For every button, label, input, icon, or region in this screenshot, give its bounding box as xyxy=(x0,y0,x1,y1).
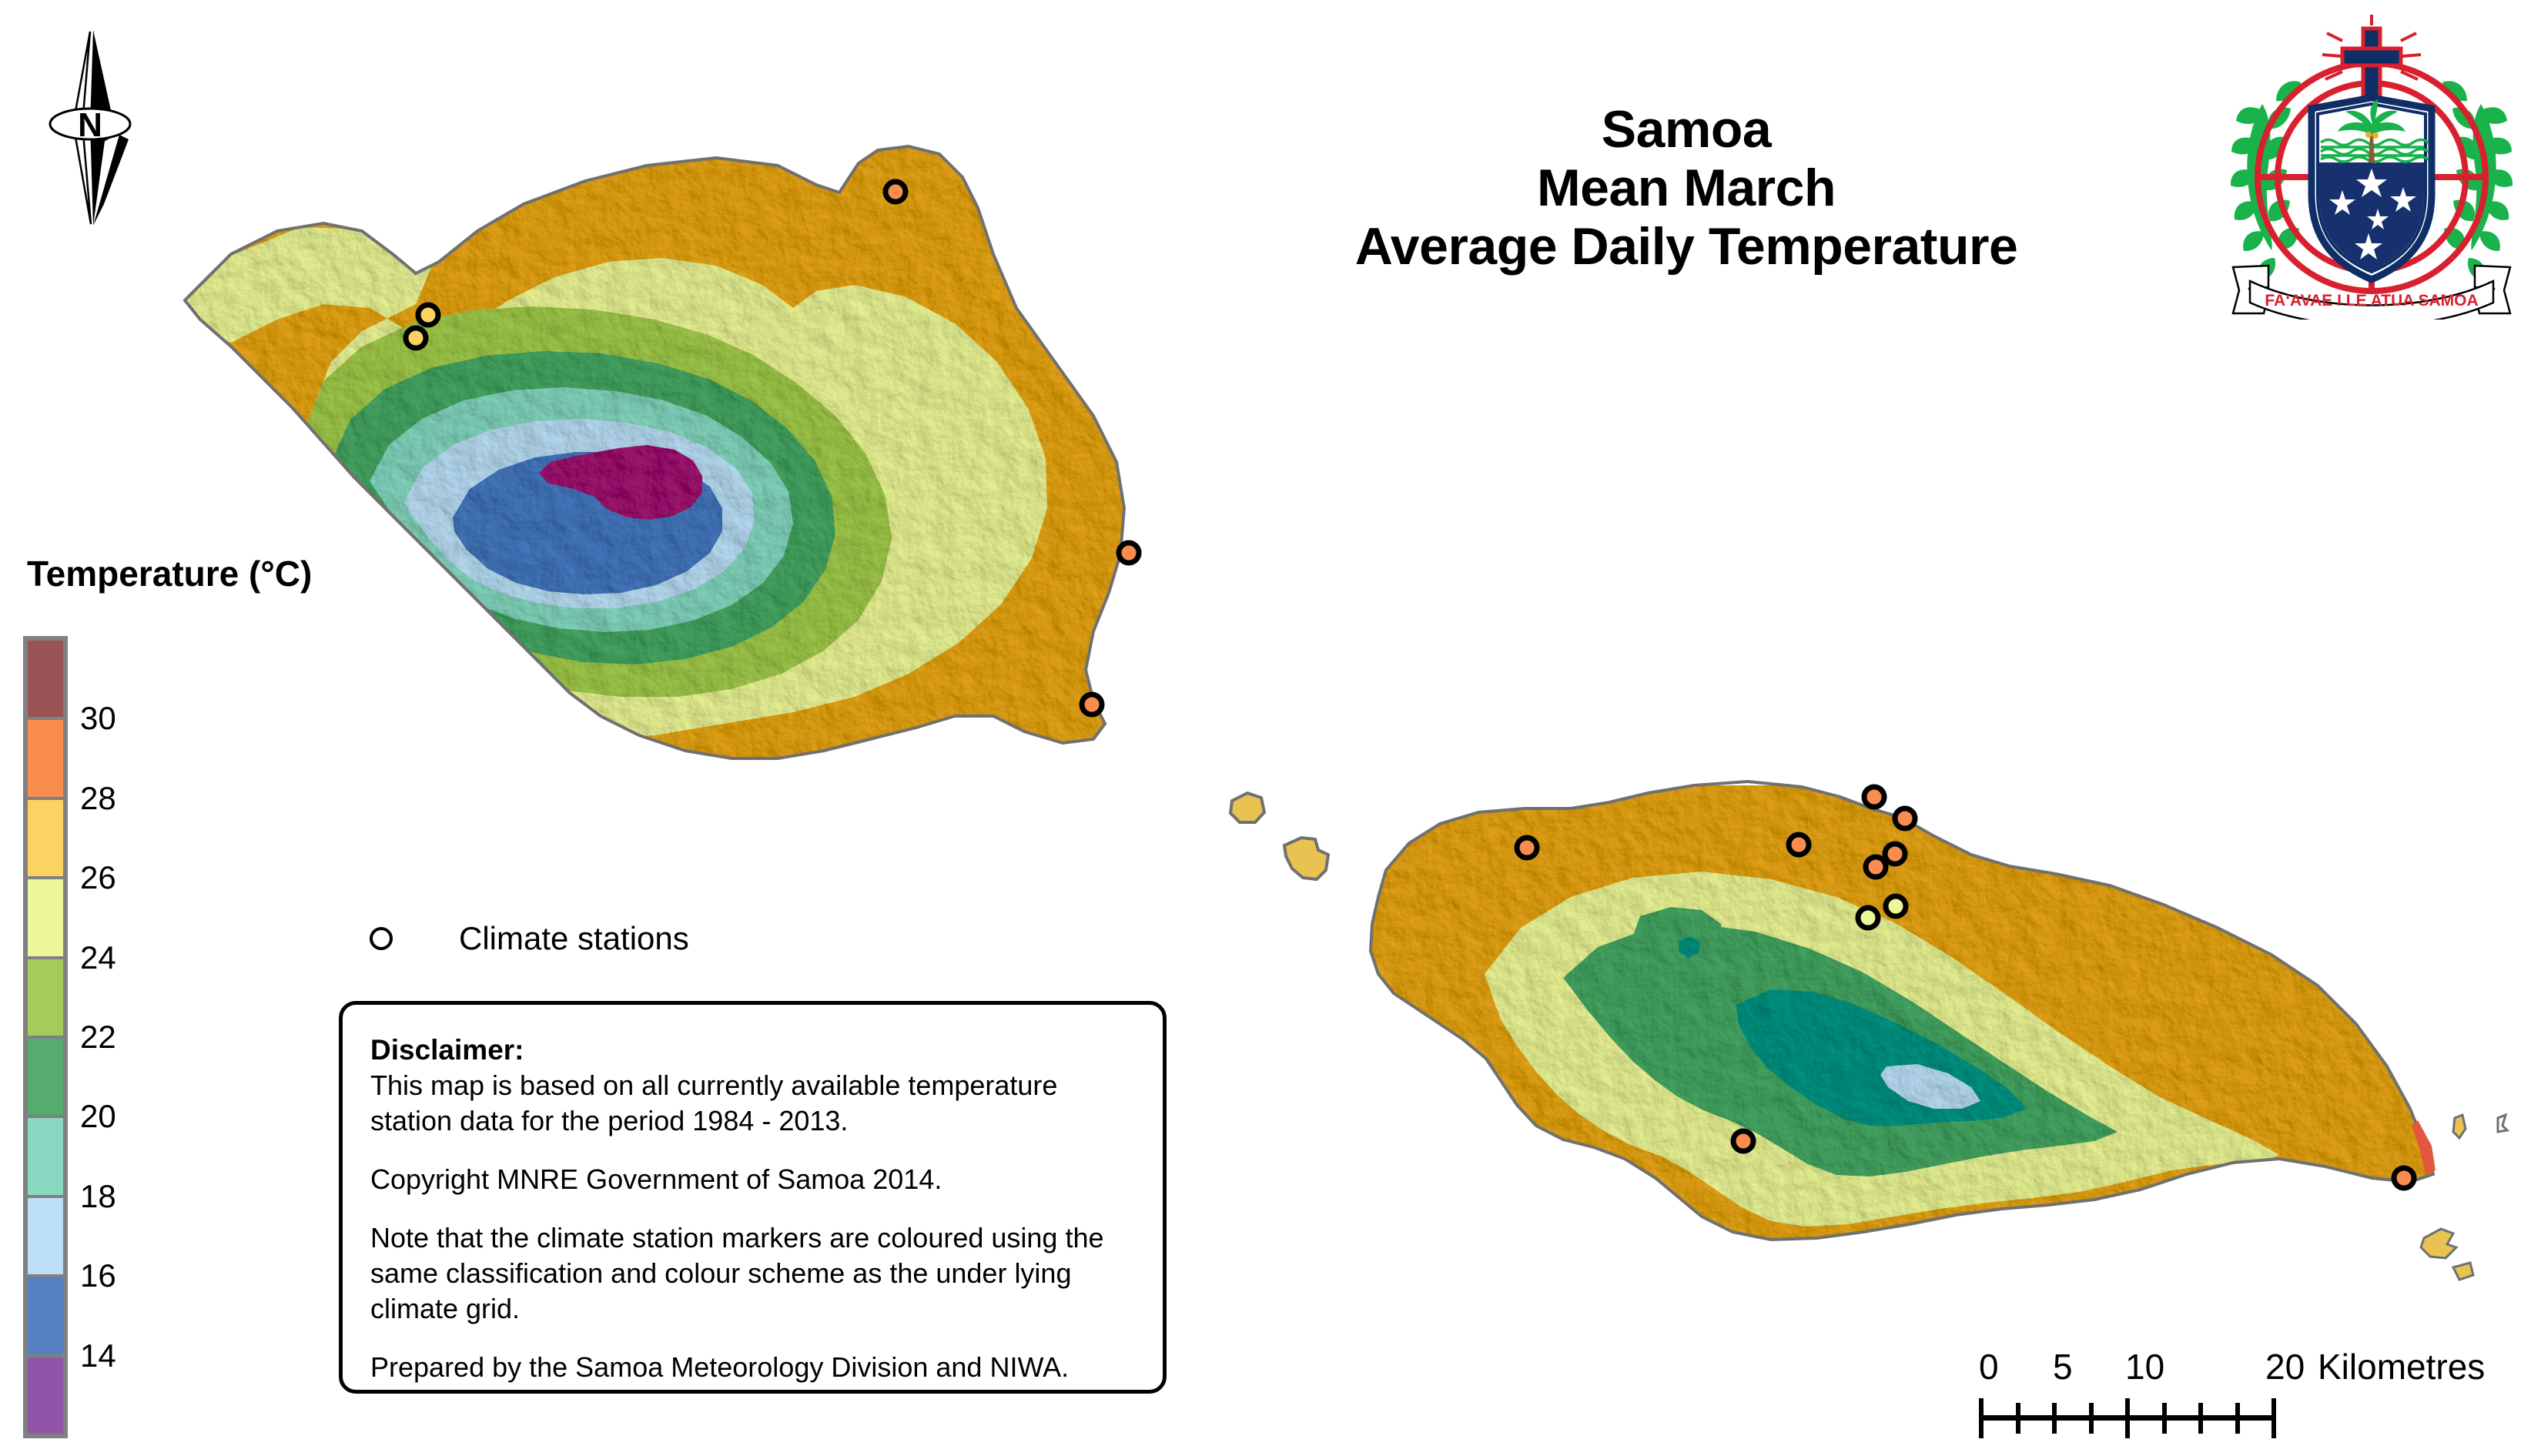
legend-item-climate-stations: Climate stations xyxy=(370,920,689,957)
disclaimer-paragraph-1: This map is based on all currently avail… xyxy=(370,1068,1137,1139)
disclaimer-paragraph-2: Copyright MNRE Government of Samoa 2014. xyxy=(370,1162,1137,1197)
climate-station-marker-icon xyxy=(370,927,393,950)
scale-label-5: 5 xyxy=(2053,1346,2073,1387)
legend-tick-18: 18 xyxy=(80,1178,116,1215)
legend-tick-28: 28 xyxy=(80,780,116,817)
scale-bar: 0 5 10 20 Kilometres xyxy=(1979,1346,2518,1446)
scale-bar-tick-5 xyxy=(2162,1403,2167,1434)
legend-swatch-9 xyxy=(28,1357,63,1434)
climate-station-marker[interactable] xyxy=(1866,857,1886,877)
climate-station-marker[interactable] xyxy=(1885,844,1905,864)
scale-bar-tick-4 xyxy=(2125,1398,2130,1438)
legend-swatch-2 xyxy=(28,800,63,876)
legend-tick-30: 30 xyxy=(80,700,116,737)
climate-station-marker[interactable] xyxy=(1733,1131,1753,1151)
climate-station-marker[interactable] xyxy=(1895,808,1915,828)
climate-station-marker[interactable] xyxy=(2394,1168,2414,1188)
shield xyxy=(2312,98,2432,279)
legend-swatch-4 xyxy=(28,959,63,1036)
legend-tick-16: 16 xyxy=(80,1257,116,1294)
legend-swatch-8 xyxy=(28,1277,63,1354)
scale-bar-labels: 0 5 10 20 Kilometres xyxy=(1979,1346,2518,1391)
legend-swatch-0 xyxy=(28,641,63,717)
scale-bar-tick-0 xyxy=(1979,1398,1984,1438)
island-savaii xyxy=(154,115,1170,778)
temperature-tick-labels: 302826242220181614 xyxy=(74,636,182,1438)
scale-label-10: 10 xyxy=(2125,1346,2164,1387)
climate-station-marker[interactable] xyxy=(1789,835,1809,855)
disclaimer-box: Disclaimer: This map is based on all cur… xyxy=(339,1001,1167,1394)
scale-bar-tick-1 xyxy=(2016,1403,2020,1434)
scale-bar-tick-8 xyxy=(2271,1398,2276,1438)
legend-swatch-1 xyxy=(28,720,63,796)
scale-label-20: 20 xyxy=(2265,1346,2305,1387)
legend-tick-22: 22 xyxy=(80,1019,116,1056)
legend-swatch-6 xyxy=(28,1118,63,1194)
island-apolima xyxy=(1230,793,1264,822)
north-arrow-label: N xyxy=(78,106,102,144)
page-title: Samoa Mean March Average Daily Temperatu… xyxy=(1201,100,2171,276)
disclaimer-heading: Disclaimer: xyxy=(370,1034,1137,1066)
climate-station-marker[interactable] xyxy=(1517,838,1537,858)
scale-label-0: 0 xyxy=(1979,1346,1999,1387)
legend-tick-14: 14 xyxy=(80,1337,116,1374)
legend-item-label: Climate stations xyxy=(459,920,689,957)
scale-bar-tick-7 xyxy=(2235,1403,2240,1434)
legend-title: Temperature (°C) xyxy=(27,553,312,594)
title-line-3: Average Daily Temperature xyxy=(1201,217,2171,276)
climate-station-marker[interactable] xyxy=(885,182,906,202)
legend-tick-26: 26 xyxy=(80,859,116,896)
climate-station-marker[interactable] xyxy=(406,328,426,348)
scale-bar-tick-6 xyxy=(2198,1403,2203,1434)
climate-station-marker[interactable] xyxy=(1864,787,1884,807)
disclaimer-paragraph-4: Prepared by the Samoa Meteorology Divisi… xyxy=(370,1350,1137,1385)
title-line-1: Samoa xyxy=(1201,100,2171,159)
legend-swatch-7 xyxy=(28,1198,63,1274)
legend-swatch-3 xyxy=(28,879,63,956)
samoa-coat-of-arms-icon: FA‘AVAE I LE ATUA SAMOA xyxy=(2225,12,2518,320)
disclaimer-paragraph-3: Note that the climate station markers ar… xyxy=(370,1220,1137,1327)
scale-bar-tick-2 xyxy=(2052,1403,2057,1434)
island-manono xyxy=(1284,838,1328,879)
scale-bar-tick-3 xyxy=(2089,1403,2094,1434)
temperature-color-bar xyxy=(23,636,68,1438)
title-line-2: Mean March xyxy=(1201,159,2171,217)
climate-station-marker[interactable] xyxy=(418,305,438,325)
scale-bar-ruler xyxy=(1979,1397,2518,1438)
climate-station-marker[interactable] xyxy=(1082,695,1102,715)
legend-swatch-5 xyxy=(28,1039,63,1115)
legend-tick-20: 20 xyxy=(80,1098,116,1135)
north-arrow-icon: N xyxy=(42,19,158,235)
scale-unit-label: Kilometres xyxy=(2318,1346,2485,1387)
climate-station-marker[interactable] xyxy=(1119,543,1139,563)
motto-text: FA‘AVAE I LE ATUA SAMOA xyxy=(2265,292,2478,310)
climate-station-marker[interactable] xyxy=(1858,908,1878,928)
legend-tick-24: 24 xyxy=(80,939,116,976)
climate-station-marker[interactable] xyxy=(1886,896,1906,916)
